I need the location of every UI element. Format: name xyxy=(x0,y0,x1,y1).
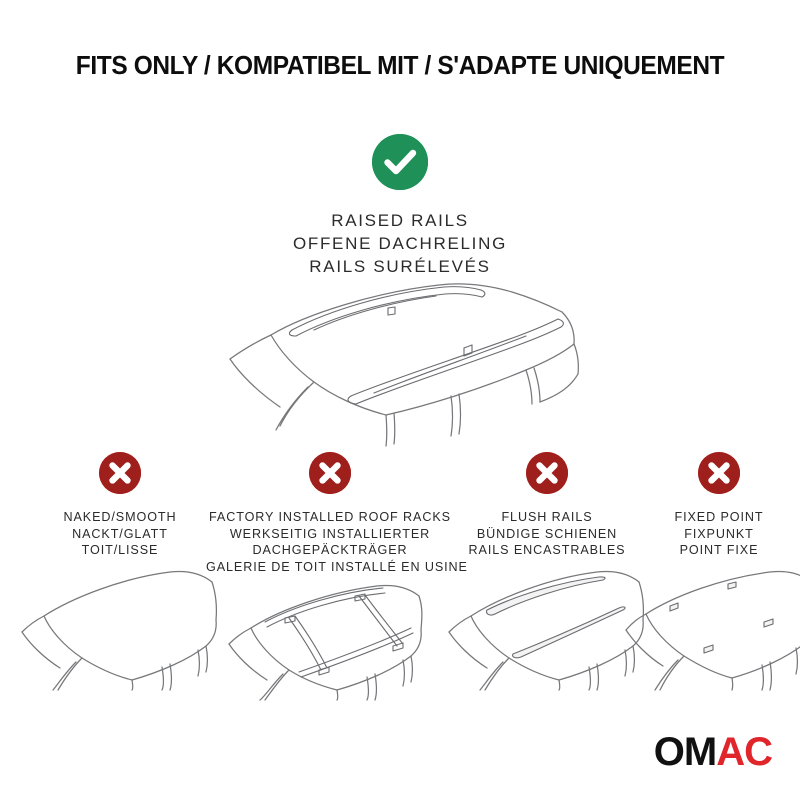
logo-text-red: AC xyxy=(716,730,772,774)
item-label-de: NACKT/GLATT xyxy=(24,526,216,543)
x-circle-icon xyxy=(526,452,568,494)
incompatible-item-fixed-point: FIXED POINT FIXPUNKT POINT FIXE xyxy=(638,452,800,559)
page-title: FITS ONLY / KOMPATIBEL MIT / S'ADAPTE UN… xyxy=(16,52,784,81)
incompatible-item-factory-racks: FACTORY INSTALLED ROOF RACKS WERKSEITIG … xyxy=(206,452,454,576)
compatible-label-fr: RAILS SURÉLEVÉS xyxy=(0,255,800,278)
item-label-de-2: DACHGEPÄCKTRÄGER xyxy=(206,542,454,559)
x-glyph xyxy=(526,452,568,494)
item-labels: NAKED/SMOOTH NACKT/GLATT TOIT/LISSE xyxy=(24,509,216,559)
item-label-de: FIXPUNKT xyxy=(638,526,800,543)
car-roof-factory-racks-illustration xyxy=(225,574,435,700)
incompatible-section: NAKED/SMOOTH NACKT/GLATT TOIT/LISSE xyxy=(0,452,800,702)
compatible-label-de: OFFENE DACHRELING xyxy=(0,232,800,255)
x-glyph xyxy=(698,452,740,494)
item-label-fr: TOIT/LISSE xyxy=(24,542,216,559)
x-circle-icon xyxy=(309,452,351,494)
item-label-fr: RAILS ENCASTRABLES xyxy=(452,542,642,559)
item-label-en: NAKED/SMOOTH xyxy=(24,509,216,526)
item-labels: FIXED POINT FIXPUNKT POINT FIXE xyxy=(638,509,800,559)
x-glyph xyxy=(309,452,351,494)
item-label-en: FIXED POINT xyxy=(638,509,800,526)
car-roof-naked-illustration xyxy=(20,560,220,690)
item-label-de-1: WERKSEITIG INSTALLIERTER xyxy=(206,526,454,543)
item-labels: FACTORY INSTALLED ROOF RACKS WERKSEITIG … xyxy=(206,509,454,576)
item-labels: FLUSH RAILS BÜNDIGE SCHIENEN RAILS ENCAS… xyxy=(452,509,642,559)
item-label-en: FLUSH RAILS xyxy=(452,509,642,526)
compatible-section: RAISED RAILS OFFENE DACHRELING RAILS SUR… xyxy=(0,134,800,278)
car-roof-fixed-point-illustration xyxy=(624,560,800,690)
car-roof-flush-rails-illustration xyxy=(447,560,647,690)
x-glyph xyxy=(99,452,141,494)
incompatible-item-flush-rails: FLUSH RAILS BÜNDIGE SCHIENEN RAILS ENCAS… xyxy=(452,452,642,559)
item-label-en: FACTORY INSTALLED ROOF RACKS xyxy=(206,509,454,526)
car-roof-raised-rails-illustration xyxy=(196,278,616,458)
incompatible-item-naked-smooth: NAKED/SMOOTH NACKT/GLATT TOIT/LISSE xyxy=(24,452,216,559)
compatible-labels: RAISED RAILS OFFENE DACHRELING RAILS SUR… xyxy=(0,209,800,278)
item-label-de: BÜNDIGE SCHIENEN xyxy=(452,526,642,543)
check-circle-icon xyxy=(372,134,428,190)
x-circle-icon xyxy=(99,452,141,494)
logo-text-dark: OM xyxy=(654,730,716,774)
omac-logo: OMAC xyxy=(654,732,772,772)
x-circle-icon xyxy=(698,452,740,494)
item-label-fr: POINT FIXE xyxy=(638,542,800,559)
check-glyph xyxy=(372,134,428,190)
compatible-label-en: RAISED RAILS xyxy=(0,209,800,232)
